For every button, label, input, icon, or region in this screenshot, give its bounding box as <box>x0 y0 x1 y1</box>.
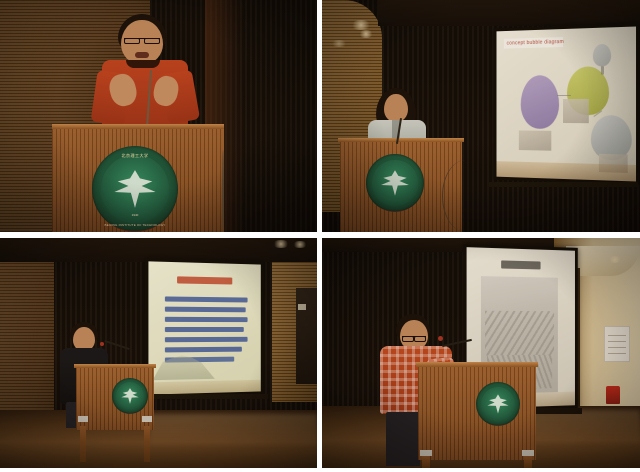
slide-body-line-4 <box>165 327 244 332</box>
floor-reflection <box>150 414 317 446</box>
podium-foot-right <box>142 416 152 422</box>
podium-leg-right <box>144 426 150 462</box>
glasses-icon <box>124 38 160 44</box>
podium-foot-left <box>420 450 432 456</box>
slide-body-line-3 <box>165 317 248 322</box>
ceiling-light-2 <box>292 241 308 248</box>
podium-top-edge <box>74 364 156 368</box>
podium-leg-left <box>422 456 430 468</box>
screen-surface <box>148 261 260 394</box>
mouth <box>135 52 149 58</box>
slide-photo-detail-1 <box>485 311 554 356</box>
slide-title-line <box>177 276 232 284</box>
slide-blob-small <box>593 44 611 67</box>
floor-reflection <box>522 410 640 444</box>
screen-bottom-bar <box>488 182 638 187</box>
ceiling-light-1 <box>272 240 290 248</box>
trash-bin <box>606 386 620 404</box>
projection-screen <box>145 258 263 398</box>
floor-cable <box>442 160 489 232</box>
glasses-icon <box>402 336 426 342</box>
slide-title-line <box>501 260 540 269</box>
slide-thumb-1 <box>563 99 589 123</box>
projection-screen: concept bubble diagram <box>494 23 639 184</box>
podium-leg-right <box>524 456 532 468</box>
head <box>384 94 408 122</box>
ceiling <box>378 0 640 26</box>
collar <box>126 60 160 68</box>
emblem-english-name: BEIJING INSTITUTE OF TECHNOLOGY <box>92 223 178 227</box>
slide-connector-2 <box>601 66 604 74</box>
screen-bottom-shadow <box>496 161 636 181</box>
notice-line-1 <box>608 335 626 336</box>
panel-bottom-right <box>322 238 640 468</box>
legs <box>386 412 420 466</box>
emblem-year: 1940 <box>92 213 178 217</box>
notice-line-3 <box>608 347 626 348</box>
slide-body-line-5 <box>165 337 248 342</box>
bottom-margin <box>0 468 640 472</box>
screen-surface: concept bubble diagram <box>496 27 636 182</box>
university-emblem <box>476 382 520 426</box>
corridor-doorway <box>296 288 317 384</box>
panel-top-right: concept bubble diagram <box>322 0 640 232</box>
panel-top-left: 北京理工大学 1940 BEIJING INSTITUTE OF TECHNOL… <box>0 0 317 232</box>
wall-notice <box>604 326 630 362</box>
microphone-head <box>438 336 443 341</box>
exit-sign <box>298 304 306 310</box>
notice-line-4 <box>608 353 626 354</box>
slide-body-line-6 <box>165 347 242 353</box>
slide-thumb-2 <box>519 130 551 150</box>
podium-leg-left <box>80 426 86 462</box>
notice-line-2 <box>608 341 626 342</box>
podium-top-edge <box>52 124 224 129</box>
screen-bottom-bar <box>144 394 268 399</box>
slide-body-line-2 <box>165 307 246 313</box>
lobby-downlight <box>608 256 622 263</box>
university-emblem: 北京理工大学 1940 BEIJING INSTITUTE OF TECHNOL… <box>92 146 178 232</box>
podium-top-edge <box>338 138 464 142</box>
podium-cable <box>222 150 224 232</box>
slide-connector-1 <box>557 95 571 96</box>
downlight-2 <box>358 30 374 38</box>
downlight-3 <box>330 40 348 47</box>
downlight-1 <box>350 20 372 30</box>
podium-top-edge <box>416 362 538 367</box>
panel-bottom-left <box>0 238 317 468</box>
university-emblem <box>366 154 424 212</box>
wood-wall-left <box>0 248 54 434</box>
slide-blob-purple <box>521 75 559 129</box>
screen-bottom-shadow <box>148 380 260 395</box>
slide-body-line-1 <box>165 296 248 302</box>
photo-collage: 北京理工大学 1940 BEIJING INSTITUTE OF TECHNOL… <box>0 0 640 472</box>
microphone-head <box>100 342 104 346</box>
podium: 北京理工大学 1940 BEIJING INSTITUTE OF TECHNOL… <box>52 126 224 232</box>
podium-foot-right <box>522 450 534 456</box>
podium-foot-left <box>78 416 88 422</box>
emblem-chinese-name: 北京理工大学 <box>92 153 178 159</box>
university-emblem <box>112 378 148 414</box>
horizontal-gutter <box>0 232 640 238</box>
speaker-figure <box>88 14 208 134</box>
podium <box>418 364 536 460</box>
